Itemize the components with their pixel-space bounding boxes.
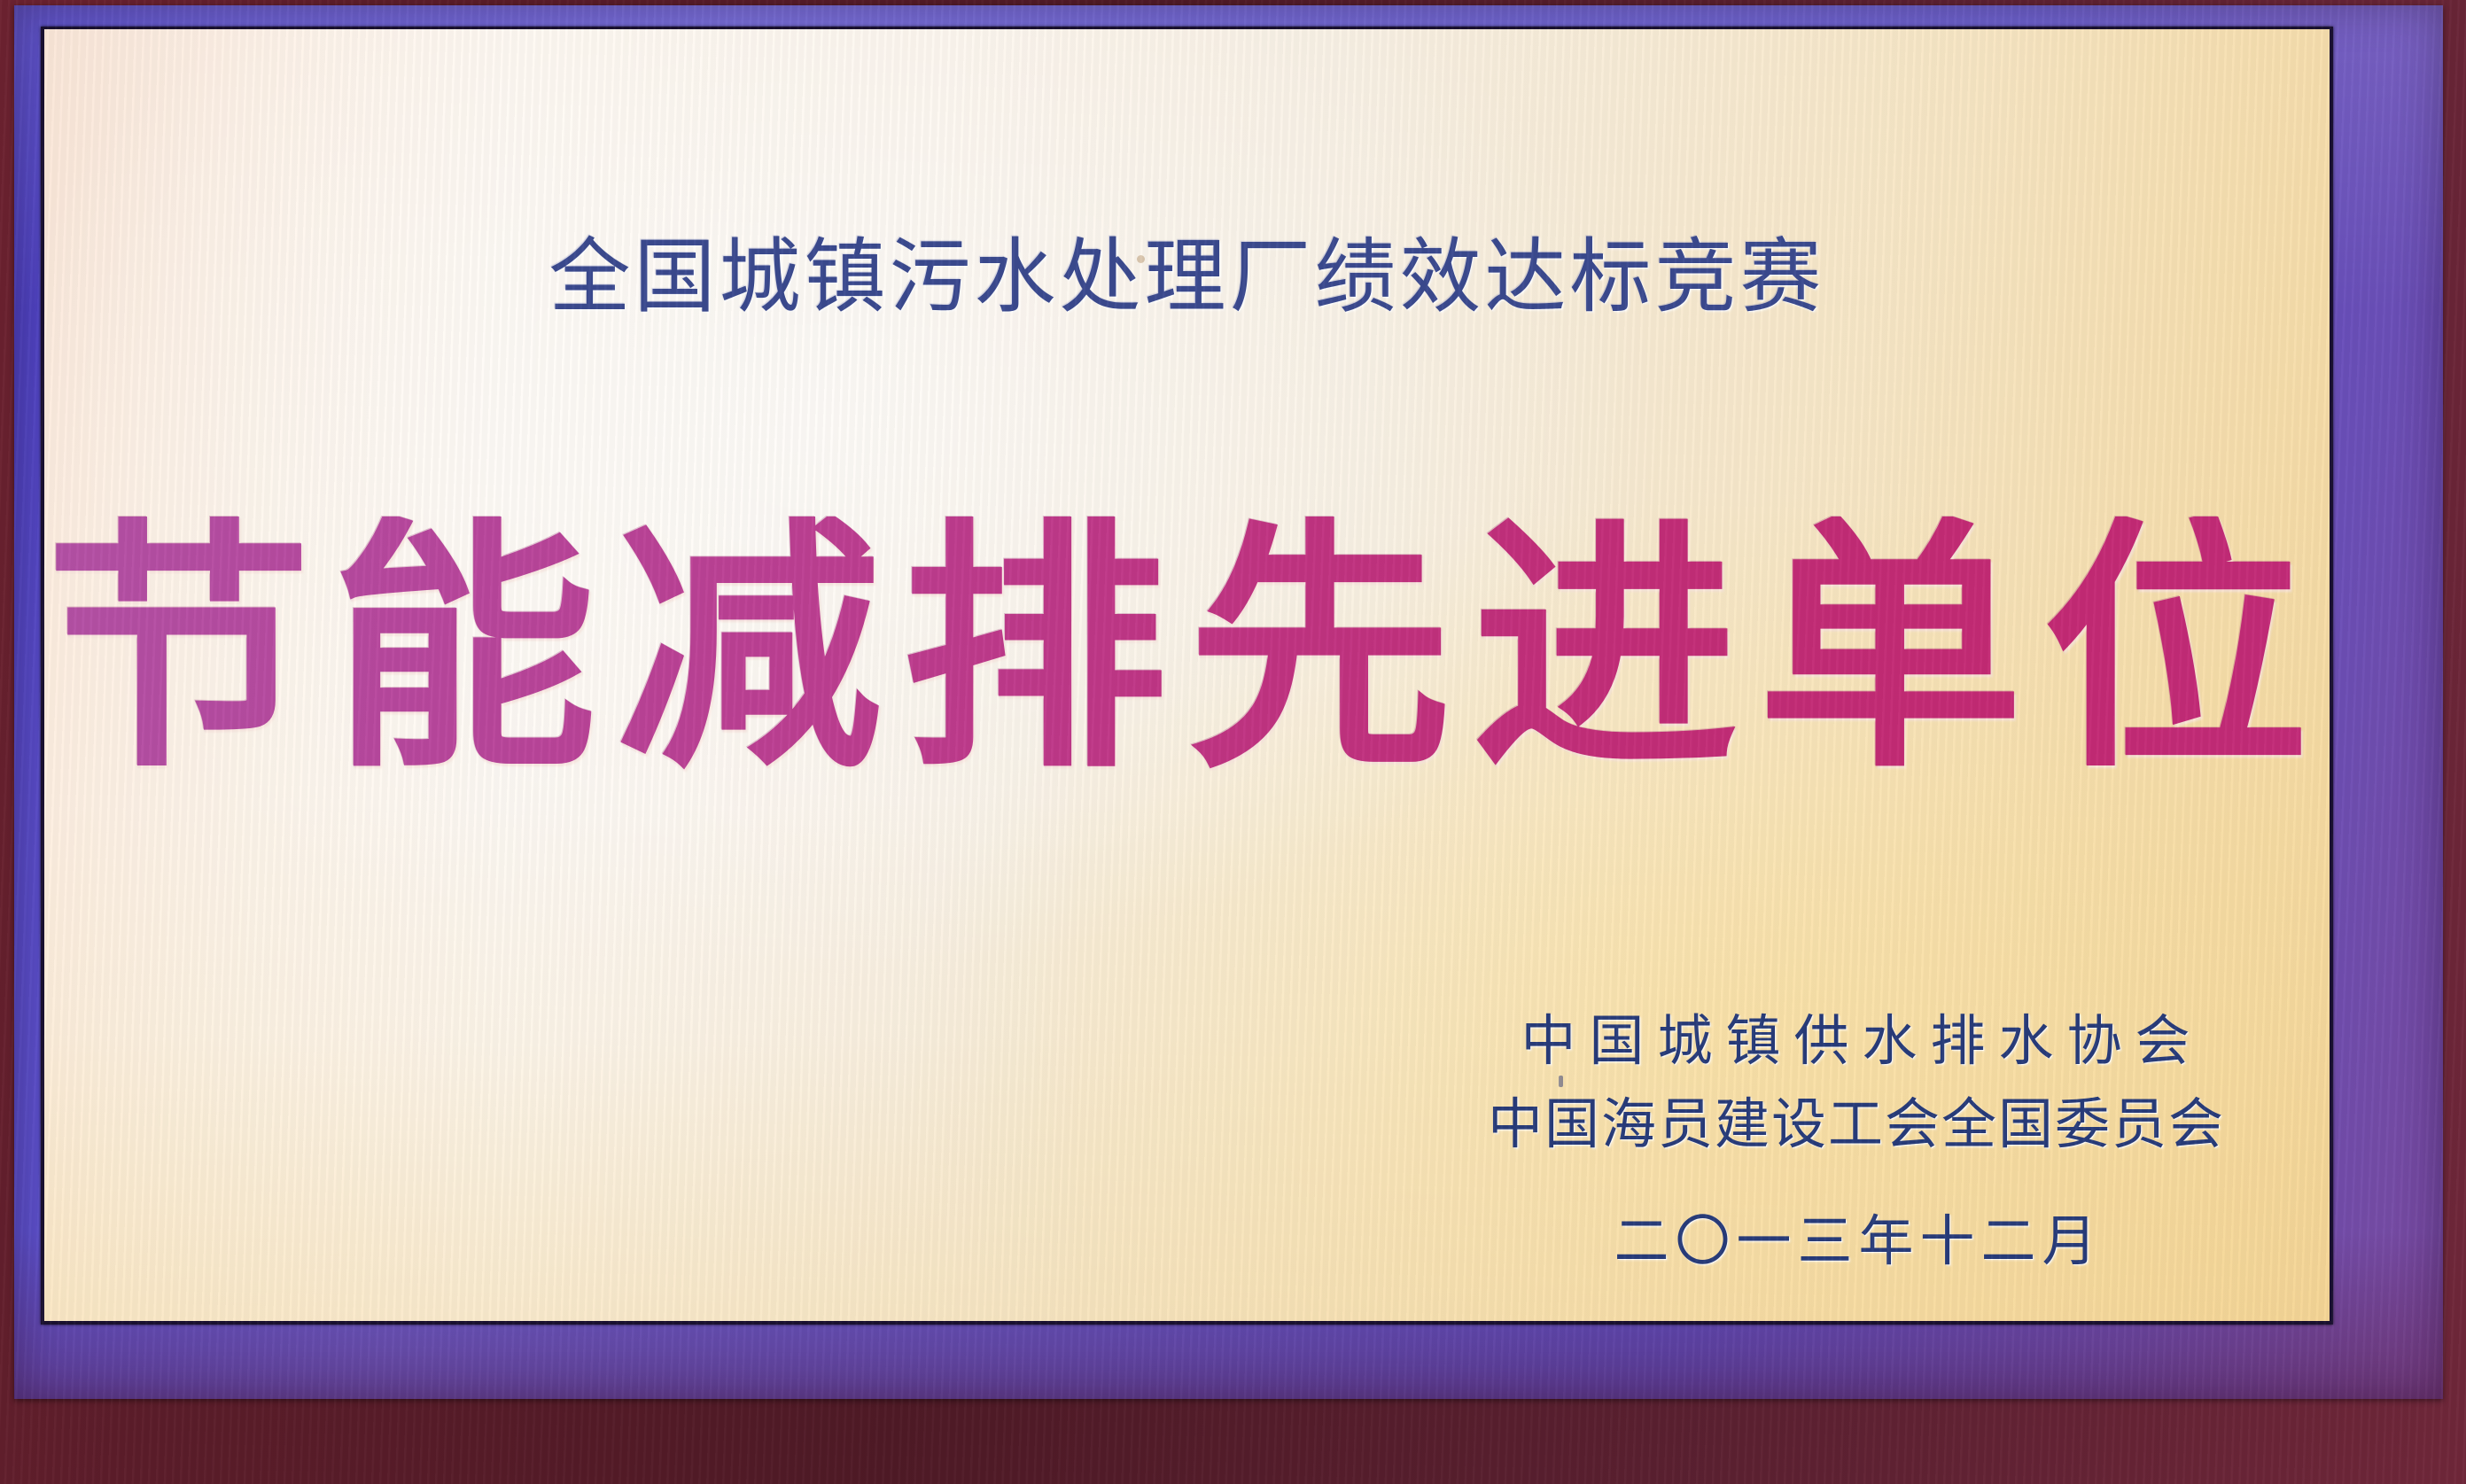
plaque-face: 全国城镇污水处理厂绩效达标竞赛 节能减排先进单位 中国城镇供水排水协会 中国海员… <box>44 29 2330 1321</box>
issuing-organization-line-1: 中国城镇供水排水协会 <box>1486 999 2225 1083</box>
issue-date-text: 二〇一三年十二月 <box>1486 1196 2225 1276</box>
issuing-organization-line-2: 中国海员建设工会全国委员会 <box>1486 1083 2225 1166</box>
signature-block: 中国城镇供水排水协会 中国海员建设工会全国委员会 二〇一三年十二月 <box>1486 999 2225 1276</box>
plaque-outer-frame: 全国城镇污水处理厂绩效达标竞赛 节能减排先进单位 中国城镇供水排水协会 中国海员… <box>0 0 2466 1484</box>
award-title-text: 节能减排先进单位 <box>44 517 2330 782</box>
signature-speck <box>1559 1076 1563 1087</box>
competition-header-text: 全国城镇污水处理厂绩效达标竞赛 <box>44 211 2330 329</box>
